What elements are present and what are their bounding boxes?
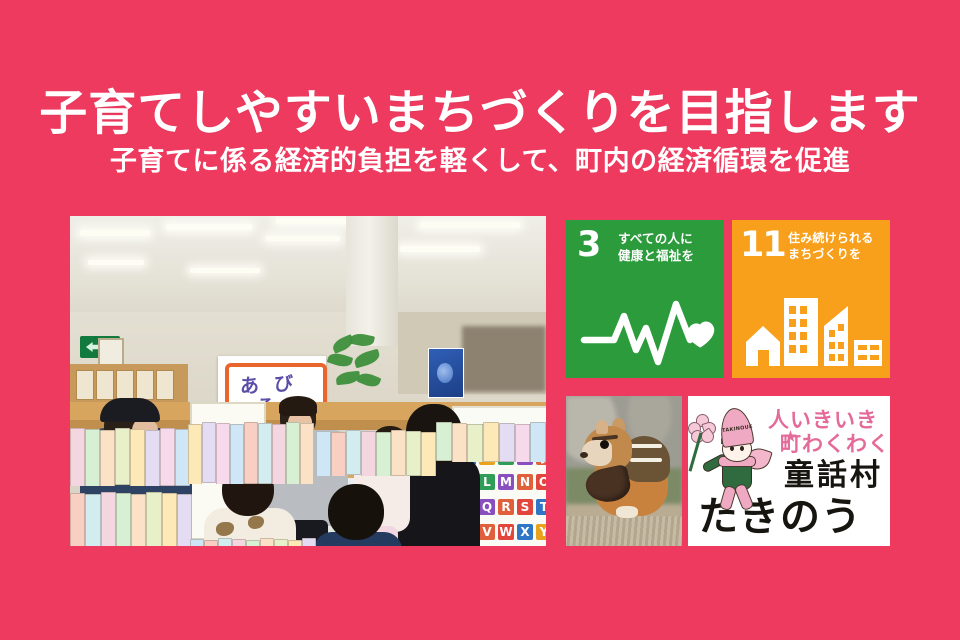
- picture-book: [499, 423, 515, 462]
- alphabet-letter: V: [479, 524, 495, 540]
- picture-book: [288, 540, 302, 546]
- ceiling-light: [190, 268, 260, 273]
- picture-book: [85, 429, 100, 486]
- picture-book: [316, 431, 331, 476]
- poster: [428, 348, 464, 398]
- chipmunk-paw: [616, 506, 638, 518]
- sign-char-2: び: [274, 369, 293, 396]
- picture-book: [130, 429, 145, 486]
- sdg-badge-11: 11 住み続けられる まちづくりを: [732, 220, 890, 378]
- picture-book: [204, 540, 218, 546]
- staff-hair: [279, 396, 317, 416]
- alphabet-letter: S: [517, 499, 533, 515]
- ceiling: [70, 216, 546, 312]
- alphabet-letter: Y: [536, 524, 546, 540]
- picture-book: [272, 424, 286, 484]
- alphabet-letter: L: [479, 474, 495, 490]
- sdg-goal-text: 住み続けられる まちづくりを: [788, 231, 873, 263]
- city-buildings-icon: [732, 284, 890, 370]
- picture-book: [300, 423, 314, 484]
- alphabet-letter: T: [536, 499, 546, 515]
- picture-book: [202, 422, 216, 483]
- picture-book: [160, 428, 175, 486]
- picture-book-row: [436, 422, 546, 462]
- library-photo: あ び そ ABCDEFGHIJKLMNOPQRSTUVWXY FILA: [70, 216, 546, 546]
- picture-book: [100, 430, 115, 486]
- picture-book: [391, 430, 406, 476]
- picture-book: [467, 424, 483, 462]
- picture-book: [331, 432, 346, 476]
- picture-book: [145, 430, 160, 486]
- adult-left-cap: [100, 398, 160, 422]
- picture-book: [190, 539, 204, 546]
- headline-block: 子育てしやすいまちづくりを目指します 子育てに係る経済的負担を軽くして、町内の経…: [0, 88, 960, 177]
- heartbeat-icon: [566, 284, 724, 370]
- picture-book: [246, 540, 260, 546]
- picture-book: [515, 424, 531, 462]
- picture-book: [131, 494, 146, 546]
- picture-book: [286, 422, 300, 484]
- picture-book: [530, 422, 546, 462]
- picture-book: [115, 428, 130, 485]
- gravel-ground: [566, 516, 682, 546]
- picture-book: [406, 431, 421, 476]
- picture-book: [188, 424, 202, 484]
- alphabet-letter: M: [498, 474, 514, 490]
- sdg-goal-line-1: すべての人に: [618, 231, 694, 248]
- picture-book: [346, 430, 361, 475]
- mascot-leg-right: [734, 483, 755, 512]
- alphabet-letter: X: [517, 524, 533, 540]
- picture-book: [260, 538, 274, 546]
- ceiling-light: [420, 222, 520, 228]
- sdg-goal-line-2: まちづくりを: [788, 247, 873, 263]
- picture-book: [376, 432, 391, 476]
- picture-book: [302, 538, 316, 546]
- back-room: [462, 326, 546, 392]
- alphabet-letter: Q: [479, 499, 495, 515]
- plant: [326, 334, 390, 400]
- page-title: 子育てしやすいまちづくりを目指します: [0, 88, 960, 139]
- picture-book: [452, 423, 468, 462]
- sdg-badge-3: 3 すべての人に 健康と福祉を: [566, 220, 724, 378]
- alphabet-letter: W: [498, 524, 514, 540]
- sdg-number: 3: [577, 228, 601, 263]
- picture-book: [146, 492, 161, 546]
- page-subtitle: 子育てに係る経済的負担を軽くして、町内の経済循環を促進: [0, 147, 960, 177]
- ceiling-light: [266, 236, 340, 241]
- picture-book: [116, 493, 131, 546]
- child-right-head: [328, 484, 384, 540]
- picture-book: [230, 424, 244, 484]
- picture-book: [216, 423, 230, 484]
- ceiling-light: [400, 246, 480, 252]
- picture-book-row: [70, 428, 190, 486]
- picture-book: [85, 494, 100, 546]
- picture-book: [162, 493, 177, 546]
- picture-book: [361, 431, 376, 476]
- picture-book-row: [188, 422, 314, 484]
- picture-book: [483, 422, 499, 462]
- picture-book: [421, 432, 436, 476]
- alphabet-letter: N: [517, 474, 533, 490]
- picture-book-row: [70, 492, 192, 546]
- picture-book: [258, 423, 272, 484]
- mascot-figure: TAKINOUE: [688, 396, 784, 516]
- alphabet-letter: O: [536, 474, 546, 490]
- picture-book: [244, 422, 258, 484]
- takinoue-logo: 人いきいき 町わくわく 童話村 たきのうえ: [688, 396, 890, 546]
- alphabet-letter: R: [498, 499, 514, 515]
- picture-book: [232, 539, 246, 546]
- picture-book: [70, 493, 85, 546]
- banner-root: 子育てしやすいまちづくりを目指します 子育てに係る経済的負担を軽くして、町内の経…: [0, 0, 960, 640]
- pillar: [346, 216, 398, 346]
- picture-book: [274, 539, 288, 546]
- sdg-goal-line-1: 住み続けられる: [788, 231, 873, 247]
- sdg-goal-line-2: 健康と福祉を: [618, 248, 694, 265]
- ceiling-light: [88, 260, 144, 265]
- chipmunk-nose: [580, 452, 588, 458]
- picture-book-row: [190, 538, 316, 546]
- picture-book: [70, 428, 85, 486]
- picture-book: [436, 422, 452, 461]
- picture-book: [101, 492, 116, 546]
- chipmunk-eye: [600, 440, 609, 449]
- chipmunk-photo: [566, 396, 682, 546]
- chipmunk-ear-front: [596, 420, 608, 434]
- sdg-number: 11: [740, 228, 785, 263]
- picture-book-row: [316, 430, 436, 476]
- ceiling-light: [166, 224, 252, 230]
- sdg-goal-text: すべての人に 健康と福祉を: [618, 231, 694, 264]
- picture-book: [218, 538, 232, 546]
- ceiling-light: [80, 230, 150, 236]
